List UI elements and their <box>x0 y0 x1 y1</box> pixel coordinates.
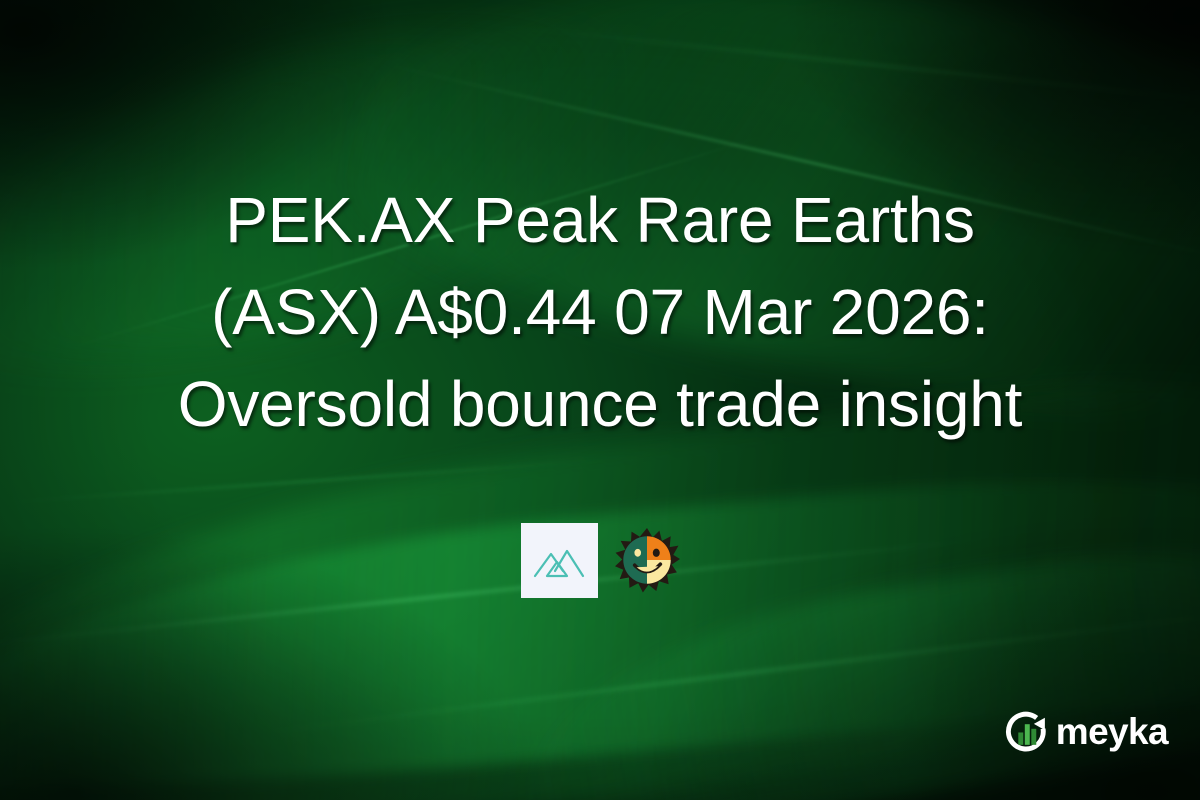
image-placeholder-mountains-icon <box>533 538 585 582</box>
page-title: PEK.AX Peak Rare Earths (ASX) A$0.44 07 … <box>55 174 1145 450</box>
brand-logo[interactable]: meyka <box>1005 710 1168 754</box>
media-row <box>521 523 680 598</box>
brand-wordmark: meyka <box>1056 713 1168 752</box>
image-placeholder <box>521 523 598 598</box>
meyka-ring-barchart-logo-icon <box>1005 710 1049 754</box>
social-card: PEK.AX Peak Rare Earths (ASX) A$0.44 07 … <box>0 0 1200 800</box>
card-content: PEK.AX Peak Rare Earths (ASX) A$0.44 07 … <box>0 0 1200 800</box>
disguised-face-emoji <box>614 527 680 593</box>
